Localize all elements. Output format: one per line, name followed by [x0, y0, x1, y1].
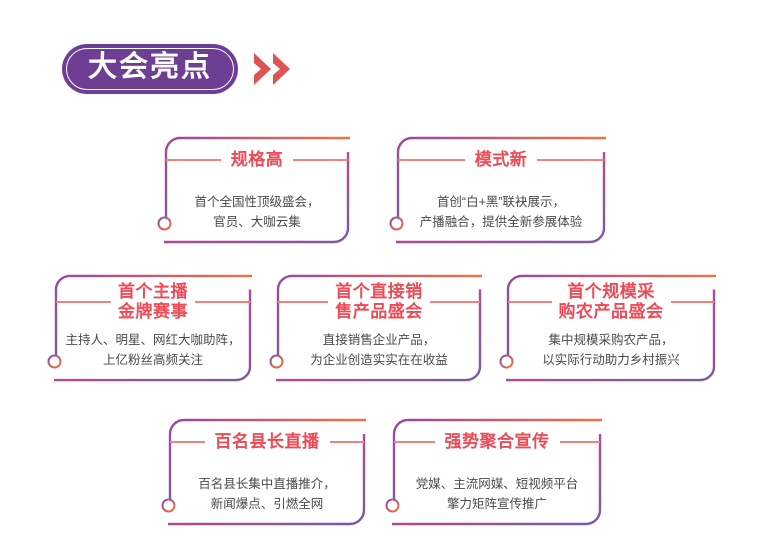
- card-title-row: 强势聚合宣传: [394, 432, 600, 452]
- card-title: 首个直接销 售产品盛会: [328, 282, 430, 321]
- card-body-line: 百名县长集中直播推介，: [174, 475, 360, 494]
- highlight-card: 强势聚合宣传 党媒、主流网媒、短视频平台 擎力矩阵宣传推广: [392, 418, 602, 526]
- title-rule-left: [166, 159, 221, 161]
- card-title: 百名县长直播: [205, 432, 330, 452]
- card-title-row: 首个规模采 购农产品盛会: [508, 282, 714, 321]
- title-rule-right: [537, 159, 604, 161]
- card-body: 首创“白+黑”联袂展示， 产播融合，提供全新参展体验: [402, 193, 600, 232]
- card-body-line: 主持人、明星、网红大咖助阵，: [60, 331, 246, 350]
- card-title: 规格高: [221, 150, 294, 170]
- card-title-line2: 购农产品盛会: [559, 302, 664, 322]
- card-title-row: 规格高: [166, 150, 348, 170]
- card-title-row: 模式新: [398, 150, 604, 170]
- title-rule-right: [560, 441, 601, 443]
- title-rule-right: [330, 441, 365, 443]
- card-title-row: 百名县长直播: [170, 432, 364, 452]
- card-body: 百名县长集中直播推介， 新闻爆点、引燃全网: [174, 475, 360, 514]
- section-title-text: 大会亮点: [88, 53, 212, 82]
- highlight-row-1: 规格高 首个全国性顶级盛会， 官员、大咖云集: [0, 136, 770, 244]
- card-content: 模式新 首创“白+黑”联袂展示， 产播融合，提供全新参展体验: [396, 136, 606, 244]
- card-body: 集中规模采购农产品， 以实际行动助力乡村振兴: [512, 331, 710, 370]
- card-title: 强势聚合宣传: [435, 432, 560, 452]
- card-body: 直接销售企业产品， 为企业创造实实在在收益: [282, 331, 476, 370]
- highlight-row-2: 首个主播 金牌赛事 主持人、明星、网红大咖助阵， 上亿粉丝高频关注: [0, 274, 770, 382]
- card-body-line: 产播融合，提供全新参展体验: [402, 213, 600, 232]
- highlight-card: 首个直接销 售产品盛会 直接销售企业产品， 为企业创造实实在在收益: [276, 274, 482, 382]
- card-body-line: 以实际行动助力乡村振兴: [512, 351, 710, 370]
- card-marker-circle-icon: [47, 354, 62, 369]
- card-content: 首个直接销 售产品盛会 直接销售企业产品， 为企业创造实实在在收益: [276, 274, 482, 382]
- card-content: 百名县长直播 百名县长集中直播推介， 新闻爆点、引燃全网: [168, 418, 366, 526]
- card-content: 强势聚合宣传 党媒、主流网媒、短视频平台 擎力矩阵宣传推广: [392, 418, 602, 526]
- card-content: 规格高 首个全国性顶级盛会， 官员、大咖云集: [164, 136, 350, 244]
- card-title-row: 首个主播 金牌赛事: [56, 282, 250, 321]
- card-marker-circle-icon: [269, 354, 284, 369]
- highlight-row-3: 百名县长直播 百名县长集中直播推介， 新闻爆点、引燃全网 强势聚: [0, 418, 770, 526]
- card-title-line1: 首个主播: [118, 282, 188, 301]
- title-rule-left: [278, 301, 328, 303]
- title-rule-left: [398, 159, 465, 161]
- card-title-line1: 首个规模采: [567, 282, 655, 301]
- highlight-card: 规格高 首个全国性顶级盛会， 官员、大咖云集: [164, 136, 350, 244]
- section-title-badge: 大会亮点: [62, 44, 238, 94]
- card-content: 首个主播 金牌赛事 主持人、明星、网红大咖助阵， 上亿粉丝高频关注: [54, 274, 252, 382]
- highlight-card: 模式新 首创“白+黑”联袂展示， 产播融合，提供全新参展体验: [396, 136, 606, 244]
- title-rule-left: [394, 441, 435, 443]
- title-rule-left: [508, 301, 552, 303]
- title-rule-left: [170, 441, 205, 443]
- card-marker-circle-icon: [499, 354, 514, 369]
- card-title-line2: 售产品盛会: [335, 302, 423, 322]
- card-body: 主持人、明星、网红大咖助阵， 上亿粉丝高频关注: [60, 331, 246, 370]
- card-body-line: 上亿粉丝高频关注: [60, 351, 246, 370]
- card-body-line: 首个全国性顶级盛会，: [170, 193, 344, 212]
- card-body-line: 首创“白+黑”联袂展示，: [402, 193, 600, 212]
- card-body-line: 官员、大咖云集: [170, 213, 344, 232]
- title-rule-right: [430, 301, 480, 303]
- card-title-line1: 首个直接销: [335, 282, 423, 301]
- card-title-row: 首个直接销 售产品盛会: [278, 282, 480, 321]
- card-body-line: 直接销售企业产品，: [282, 331, 476, 350]
- card-marker-circle-icon: [157, 216, 172, 231]
- section-header: 大会亮点: [62, 44, 290, 94]
- highlight-card: 百名县长直播 百名县长集中直播推介， 新闻爆点、引燃全网: [168, 418, 366, 526]
- card-body-line: 为企业创造实实在在收益: [282, 351, 476, 370]
- card-body-line: 党媒、主流网媒、短视频平台: [398, 475, 596, 494]
- card-body-line: 擎力矩阵宣传推广: [398, 495, 596, 514]
- card-body: 党媒、主流网媒、短视频平台 擎力矩阵宣传推广: [398, 475, 596, 514]
- card-content: 首个规模采 购农产品盛会 集中规模采购农产品， 以实际行动助力乡村振兴: [506, 274, 716, 382]
- card-title: 首个规模采 购农产品盛会: [552, 282, 671, 321]
- title-rule-right: [195, 301, 250, 303]
- card-marker-circle-icon: [161, 498, 176, 513]
- title-rule-right: [293, 159, 348, 161]
- card-title: 模式新: [465, 150, 538, 170]
- highlight-card: 首个主播 金牌赛事 主持人、明星、网红大咖助阵， 上亿粉丝高频关注: [54, 274, 252, 382]
- chevron-right-icon: [271, 52, 293, 86]
- card-body: 首个全国性顶级盛会， 官员、大咖云集: [170, 193, 344, 232]
- card-body-line: 新闻爆点、引燃全网: [174, 495, 360, 514]
- title-rule-right: [671, 301, 715, 303]
- card-title-line2: 金牌赛事: [118, 302, 188, 322]
- card-marker-circle-icon: [385, 498, 400, 513]
- card-body-line: 集中规模采购农产品，: [512, 331, 710, 350]
- highlight-card: 首个规模采 购农产品盛会 集中规模采购农产品， 以实际行动助力乡村振兴: [506, 274, 716, 382]
- double-chevron-right-icon: [252, 52, 290, 86]
- card-title: 首个主播 金牌赛事: [111, 282, 195, 321]
- title-rule-left: [56, 301, 111, 303]
- card-marker-circle-icon: [389, 216, 404, 231]
